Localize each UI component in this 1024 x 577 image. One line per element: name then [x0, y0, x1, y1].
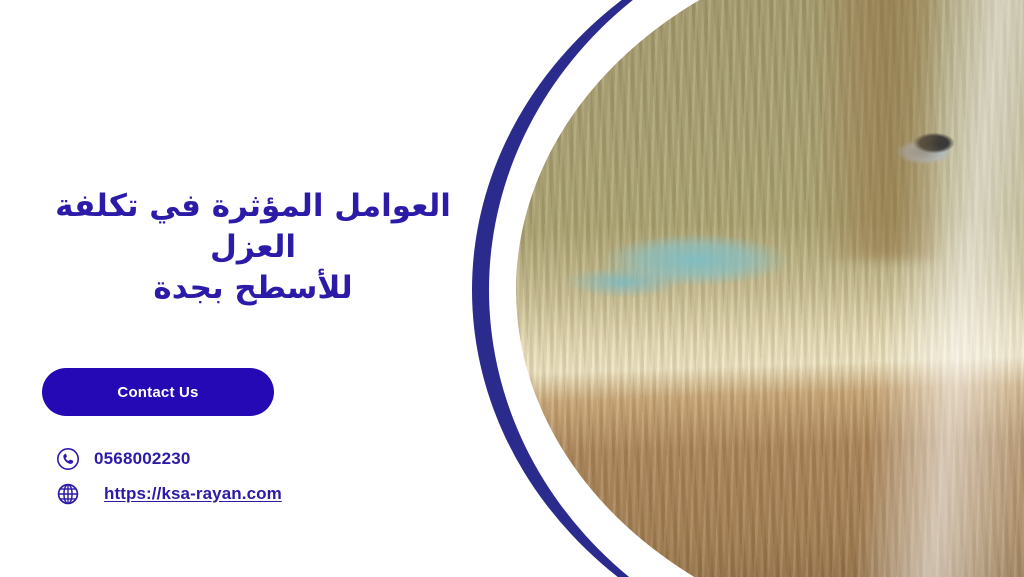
- headline-line-1: العوامل المؤثرة في تكلفة العزل: [55, 188, 451, 265]
- phone-number: 0568002230: [94, 449, 191, 469]
- headline-line-2: للأسطح بجدة: [153, 270, 352, 306]
- contact-list: 0568002230 https://ksa-rayan.com: [56, 441, 456, 511]
- website-link[interactable]: https://ksa-rayan.com: [104, 484, 282, 504]
- artwork-panel: [464, 0, 1024, 577]
- promo-banner: العوامل المؤثرة في تكلفة العزلللأسطح بجد…: [0, 0, 1024, 577]
- contact-row-phone[interactable]: 0568002230: [56, 441, 456, 476]
- contact-us-button[interactable]: Contact Us: [42, 368, 274, 416]
- content-panel: العوامل المؤثرة في تكلفة العزلللأسطح بجد…: [0, 0, 510, 577]
- globe-icon: [56, 482, 80, 506]
- hero-photo-image: [516, 0, 1024, 577]
- phone-icon: [56, 447, 80, 471]
- hero-photo: [516, 0, 1024, 577]
- page-title: العوامل المؤثرة في تكلفة العزلللأسطح بجد…: [22, 186, 484, 309]
- contact-row-website[interactable]: https://ksa-rayan.com: [56, 476, 456, 511]
- wall-shadow: [816, 0, 936, 260]
